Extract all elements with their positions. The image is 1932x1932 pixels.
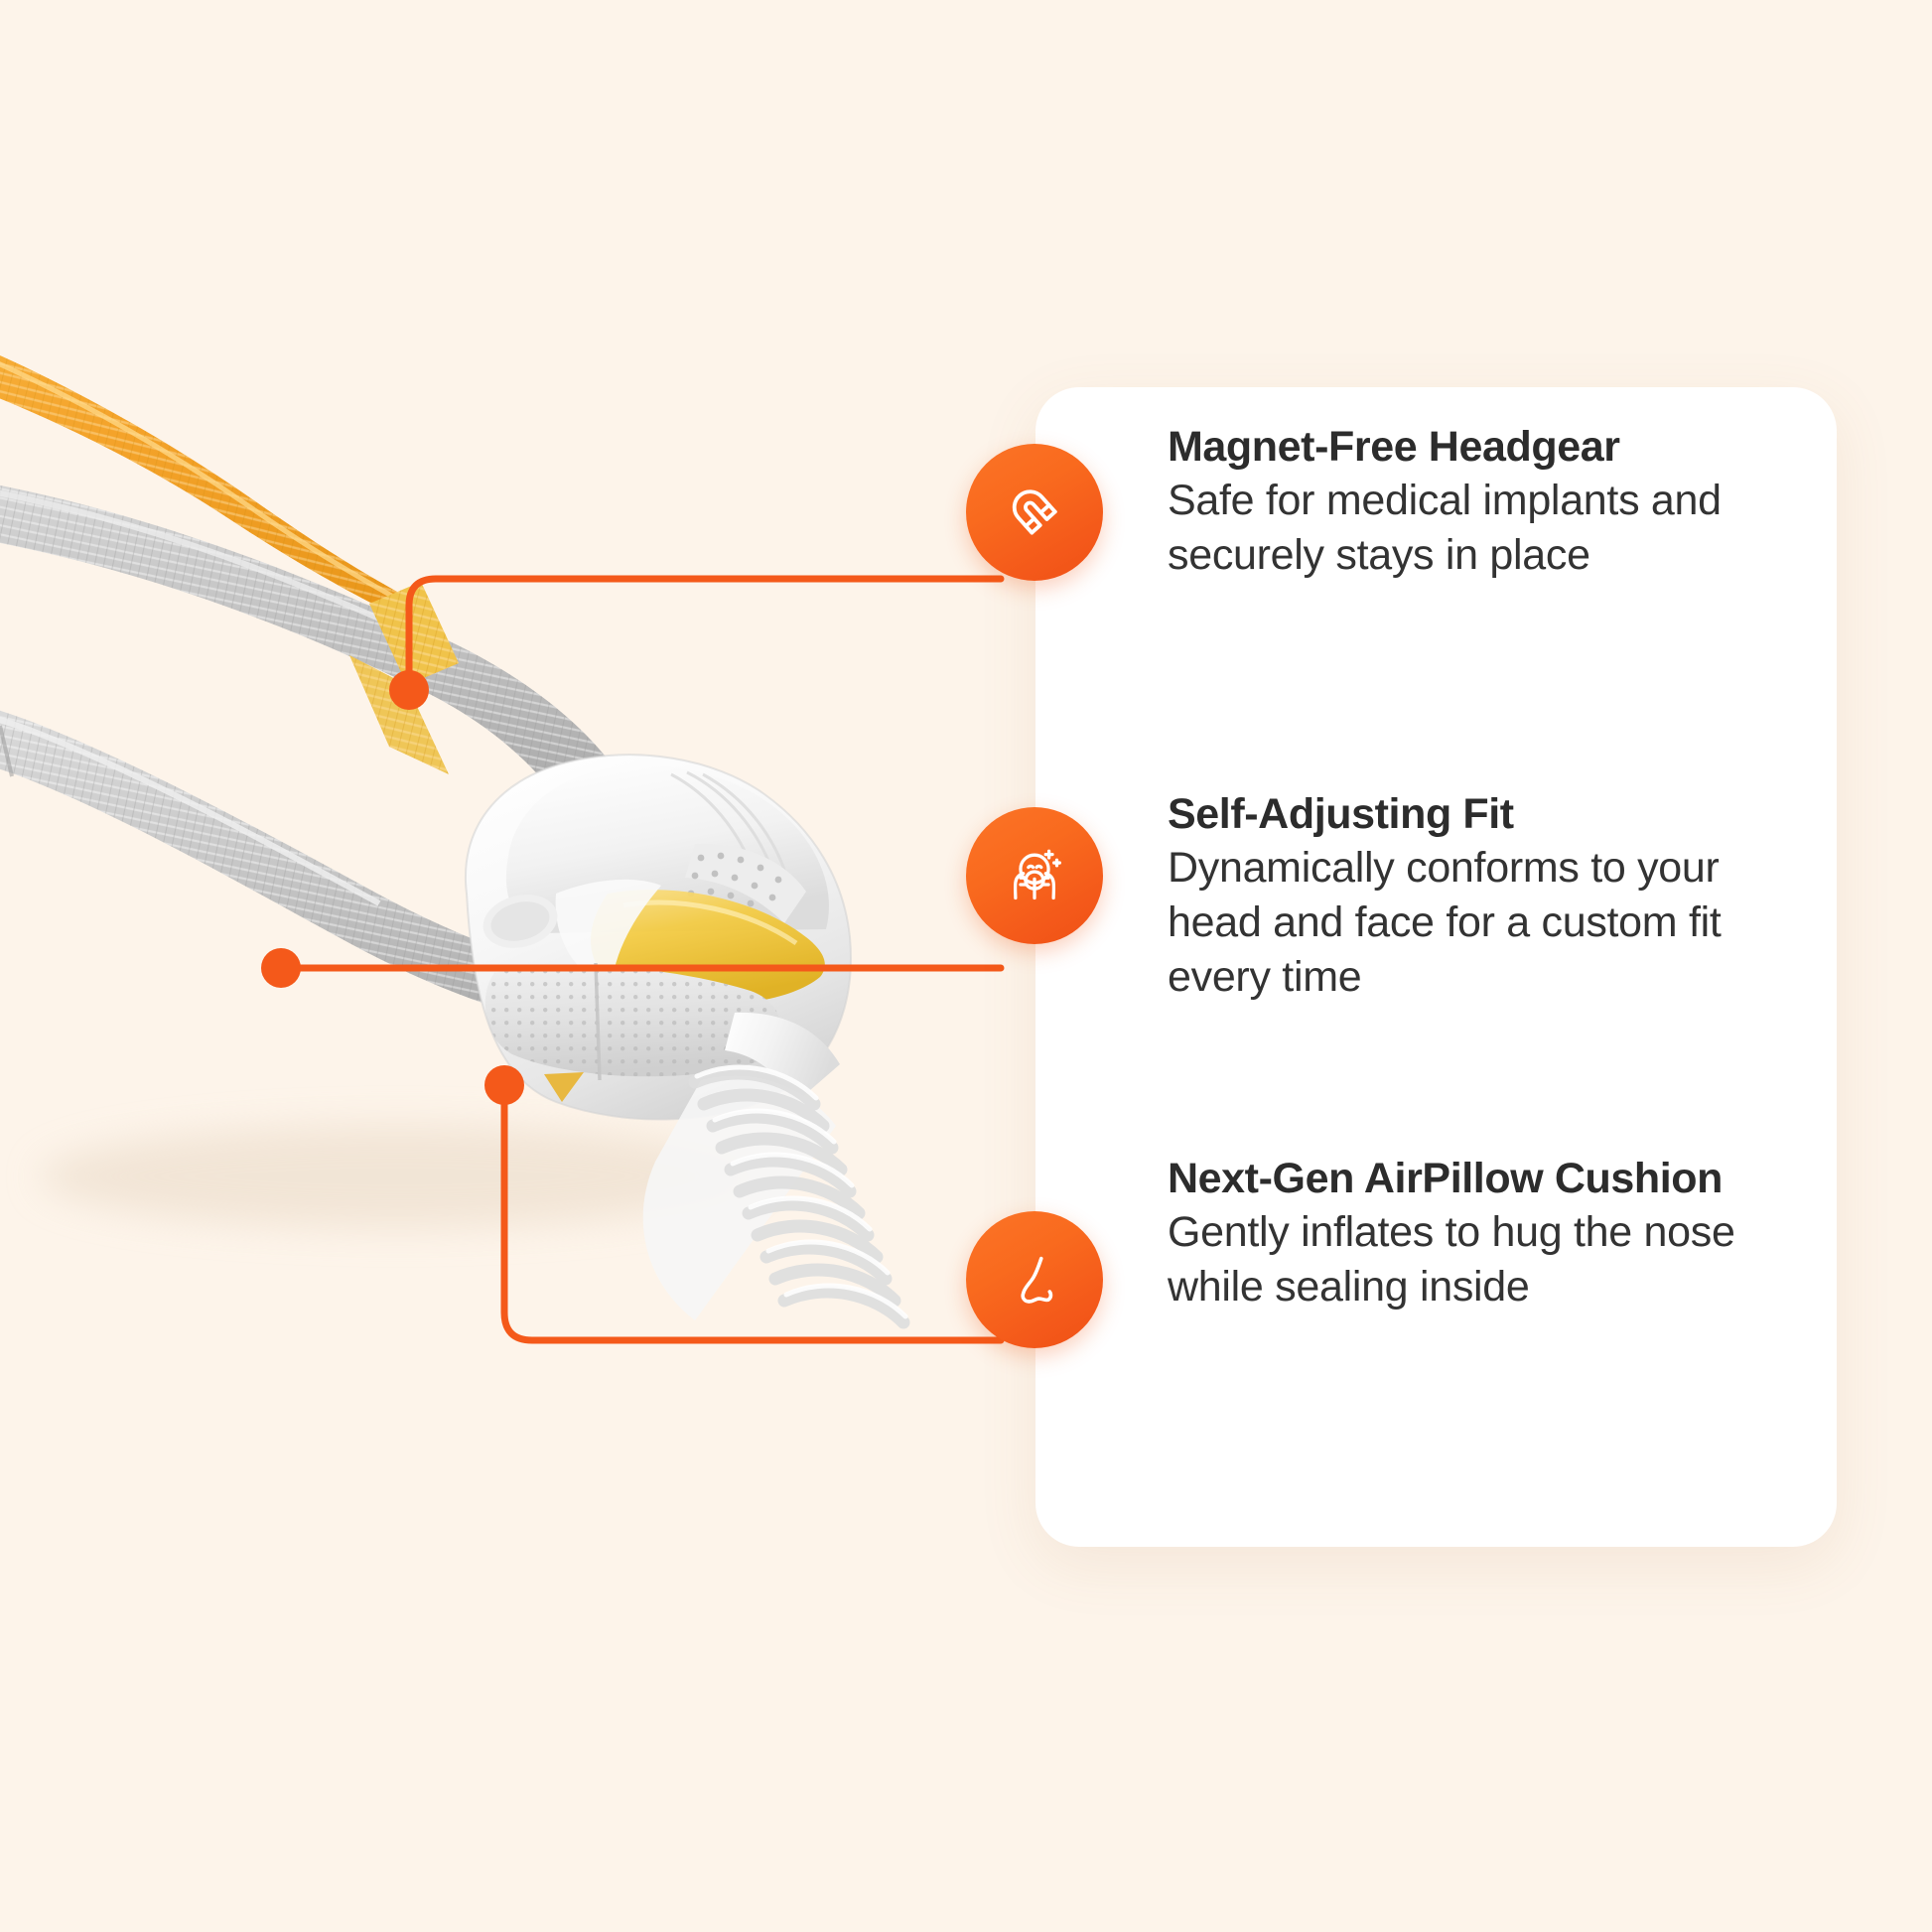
feature-item-airpillow-cushion: Next-Gen AirPillow Cushion Gently inflat… [1035, 1154, 1837, 1314]
features-card: Magnet-Free Headgear Safe for medical im… [1035, 387, 1837, 1547]
nose-icon-glyph [999, 1244, 1070, 1315]
feature-description: Safe for medical implants and securely s… [1168, 474, 1817, 582]
feature-description: Gently inflates to hug the nose while se… [1168, 1205, 1817, 1313]
feature-title: Magnet-Free Headgear [1168, 422, 1817, 472]
feature-item-magnet-free-headgear: Magnet-Free Headgear Safe for medical im… [1035, 422, 1837, 583]
feature-title: Self-Adjusting Fit [1168, 789, 1817, 839]
magnet-icon-glyph [999, 477, 1070, 548]
magnet-icon[interactable] [966, 444, 1103, 581]
nose-icon[interactable] [966, 1211, 1103, 1348]
feature-text-block: Self-Adjusting Fit Dynamically conforms … [1168, 789, 1835, 1004]
self-adjusting-face-icon-glyph [999, 840, 1070, 911]
feature-text-block: Next-Gen AirPillow Cushion Gently inflat… [1168, 1154, 1835, 1314]
product-illustration [0, 0, 993, 1489]
feature-text-block: Magnet-Free Headgear Safe for medical im… [1168, 422, 1835, 583]
feature-item-self-adjusting-fit: Self-Adjusting Fit Dynamically conforms … [1035, 789, 1837, 1004]
product-image [0, 0, 993, 1489]
self-adjusting-face-icon[interactable] [966, 807, 1103, 944]
infographic-stage: Magnet-Free Headgear Safe for medical im… [0, 0, 1932, 1932]
feature-description: Dynamically conforms to your head and fa… [1168, 841, 1817, 1004]
feature-title: Next-Gen AirPillow Cushion [1168, 1154, 1817, 1203]
